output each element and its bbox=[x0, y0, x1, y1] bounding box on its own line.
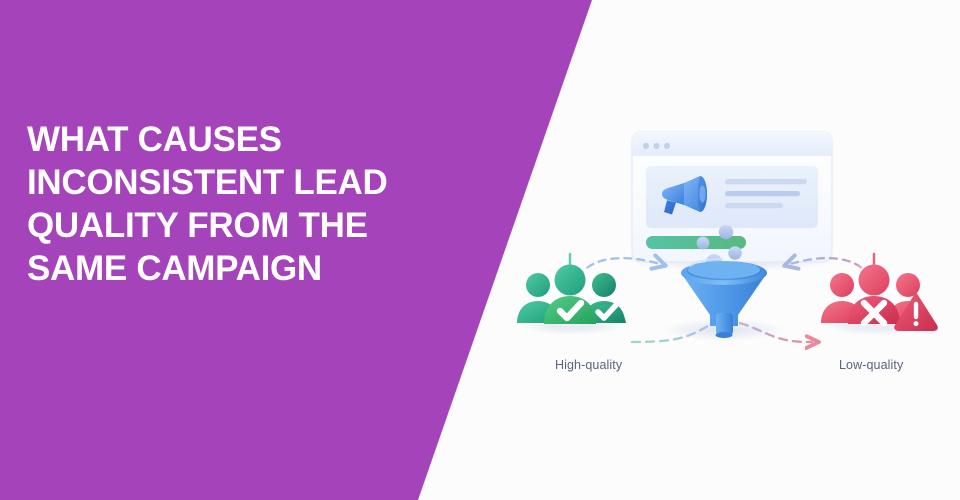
banner-root: WHAT CAUSES INCONSISTENT LEAD QUALITY FR… bbox=[0, 0, 960, 500]
page-title: WHAT CAUSES INCONSISTENT LEAD QUALITY FR… bbox=[27, 118, 427, 290]
progress-bar bbox=[646, 236, 746, 249]
lead-quality-illustration bbox=[500, 110, 960, 400]
label-low-quality: Low-quality bbox=[839, 358, 903, 372]
label-high-quality: High-quality bbox=[555, 358, 622, 372]
window-control-dots bbox=[643, 143, 670, 149]
people-group-approved-icon bbox=[517, 254, 626, 335]
people-group-rejected-icon bbox=[821, 254, 938, 335]
funnel-icon bbox=[662, 259, 786, 341]
